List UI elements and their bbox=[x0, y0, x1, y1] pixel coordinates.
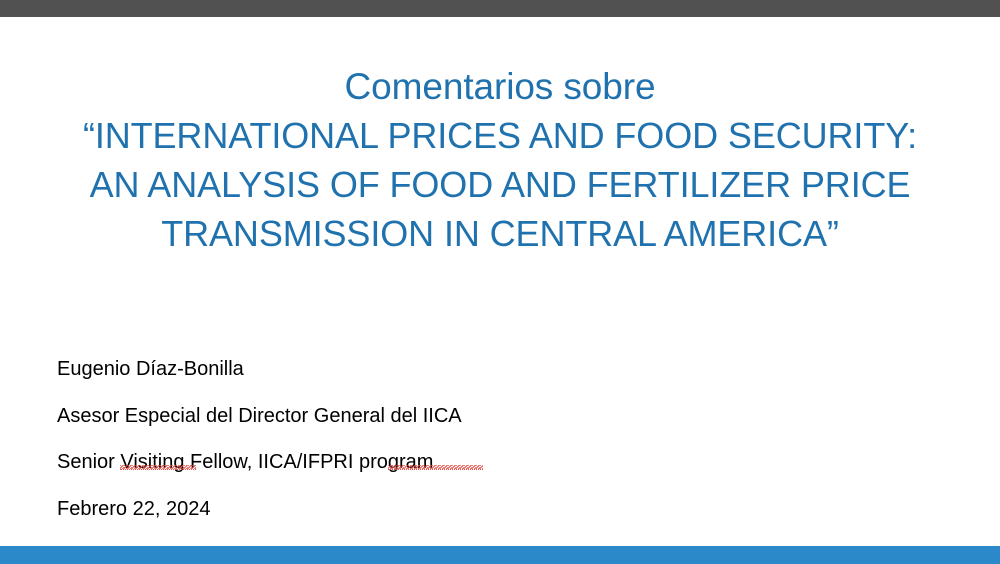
title-line-3: AN ANALYSIS OF FOOD AND FERTILIZER PRICE bbox=[40, 160, 960, 209]
spellcheck-underline-visiting bbox=[120, 465, 196, 470]
presentation-date: Febrero 22, 2024 bbox=[57, 486, 817, 533]
author-name: Eugenio Díaz-Bonilla bbox=[57, 346, 817, 393]
slide-title-block: Comentarios sobre “INTERNATIONAL PRICES … bbox=[40, 62, 960, 258]
author-affiliation: Senior Visiting Fellow, IICA/IFPRI progr… bbox=[57, 439, 817, 486]
slide-top-accent-band bbox=[0, 0, 1000, 17]
slide-body-block: Eugenio Díaz-Bonilla Asesor Especial del… bbox=[57, 346, 817, 532]
title-line-2: “INTERNATIONAL PRICES AND FOOD SECURITY: bbox=[40, 111, 960, 160]
author-role: Asesor Especial del Director General del… bbox=[57, 393, 817, 440]
title-line-4: TRANSMISSION IN CENTRAL AMERICA” bbox=[40, 209, 960, 258]
title-line-1: Comentarios sobre bbox=[40, 62, 960, 111]
presentation-slide: Comentarios sobre “INTERNATIONAL PRICES … bbox=[0, 0, 1000, 564]
spellcheck-underline-program bbox=[388, 465, 483, 470]
slide-bottom-accent-band bbox=[0, 546, 1000, 564]
